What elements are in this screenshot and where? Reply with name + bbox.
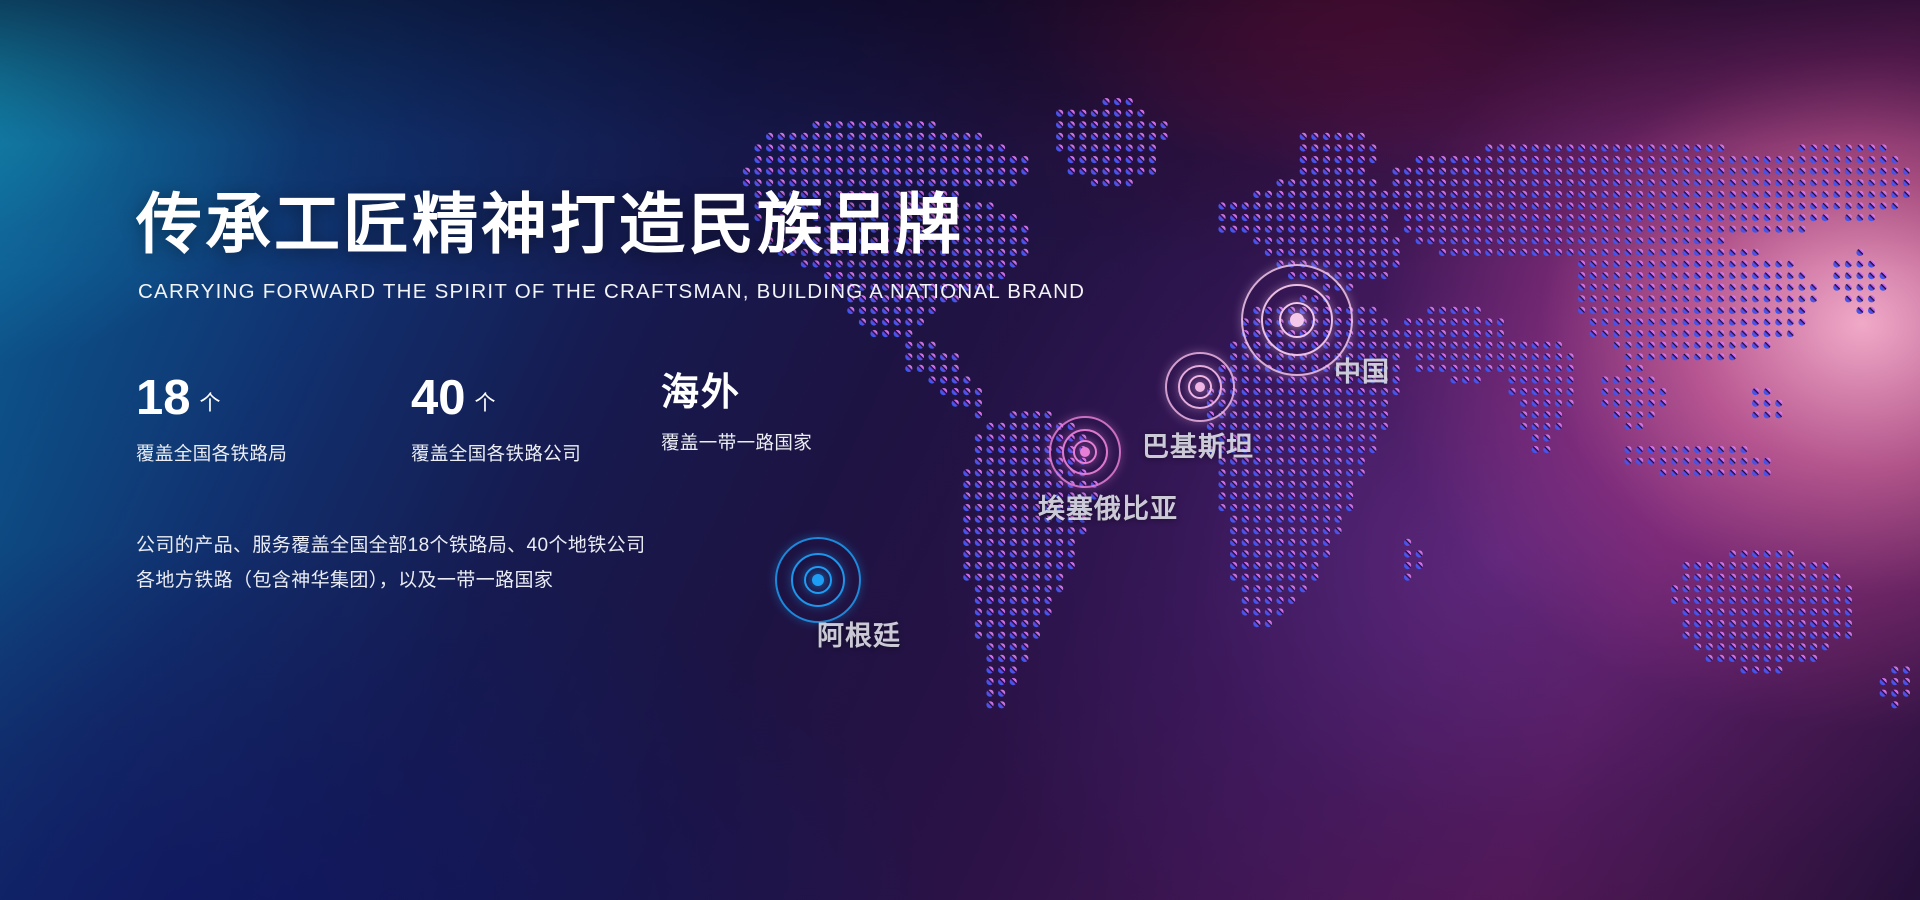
stat-item: 18个覆盖全国各铁路局	[136, 374, 411, 466]
page-title: 传承工匠精神打造民族品牌	[136, 188, 1016, 262]
stat-value: 18个	[136, 374, 411, 423]
hero-copy: 传承工匠精神打造民族品牌 CARRYING FORWARD THE SPIRIT…	[136, 188, 1016, 598]
stat-item: 海外覆盖一带一路国家	[661, 374, 911, 455]
stat-value: 海外	[661, 374, 911, 412]
stat-unit: 个	[200, 387, 221, 417]
stats-row: 18个覆盖全国各铁路局40个覆盖全国各铁路公司海外覆盖一带一路国家	[136, 374, 1016, 466]
stat-value: 40个	[411, 374, 661, 423]
marker-core-icon	[1290, 313, 1304, 327]
stat-description: 覆盖一带一路国家	[661, 429, 911, 455]
description-line-1: 公司的产品、服务覆盖全国全部18个铁路局、40个地铁公司	[136, 528, 1016, 563]
map-marker-label: 埃塞俄比亚	[1038, 487, 1178, 526]
stat-number: 海外	[661, 374, 741, 412]
stat-number: 40	[411, 374, 466, 423]
stat-item: 40个覆盖全国各铁路公司	[411, 374, 661, 466]
hero-banner: 中国巴基斯坦埃塞俄比亚阿根廷 传承工匠精神打造民族品牌 CARRYING FOR…	[0, 0, 1920, 900]
map-marker-label: 中国	[1334, 350, 1390, 389]
map-marker-label: 阿根廷	[817, 614, 901, 653]
description-line-2: 各地方铁路（包含神华集团），以及一带一路国家	[136, 563, 1016, 598]
marker-core-icon	[1080, 447, 1090, 457]
description-block: 公司的产品、服务覆盖全国全部18个铁路局、40个地铁公司 各地方铁路（包含神华集…	[136, 528, 1016, 598]
stat-number: 18	[136, 374, 191, 423]
marker-core-icon	[1195, 382, 1205, 392]
page-subtitle: CARRYING FORWARD THE SPIRIT OF THE CRAFT…	[138, 280, 1016, 304]
stat-description: 覆盖全国各铁路局	[136, 440, 411, 466]
stat-description: 覆盖全国各铁路公司	[411, 440, 661, 466]
map-marker-label: 巴基斯坦	[1142, 425, 1254, 464]
stat-unit: 个	[475, 387, 496, 417]
